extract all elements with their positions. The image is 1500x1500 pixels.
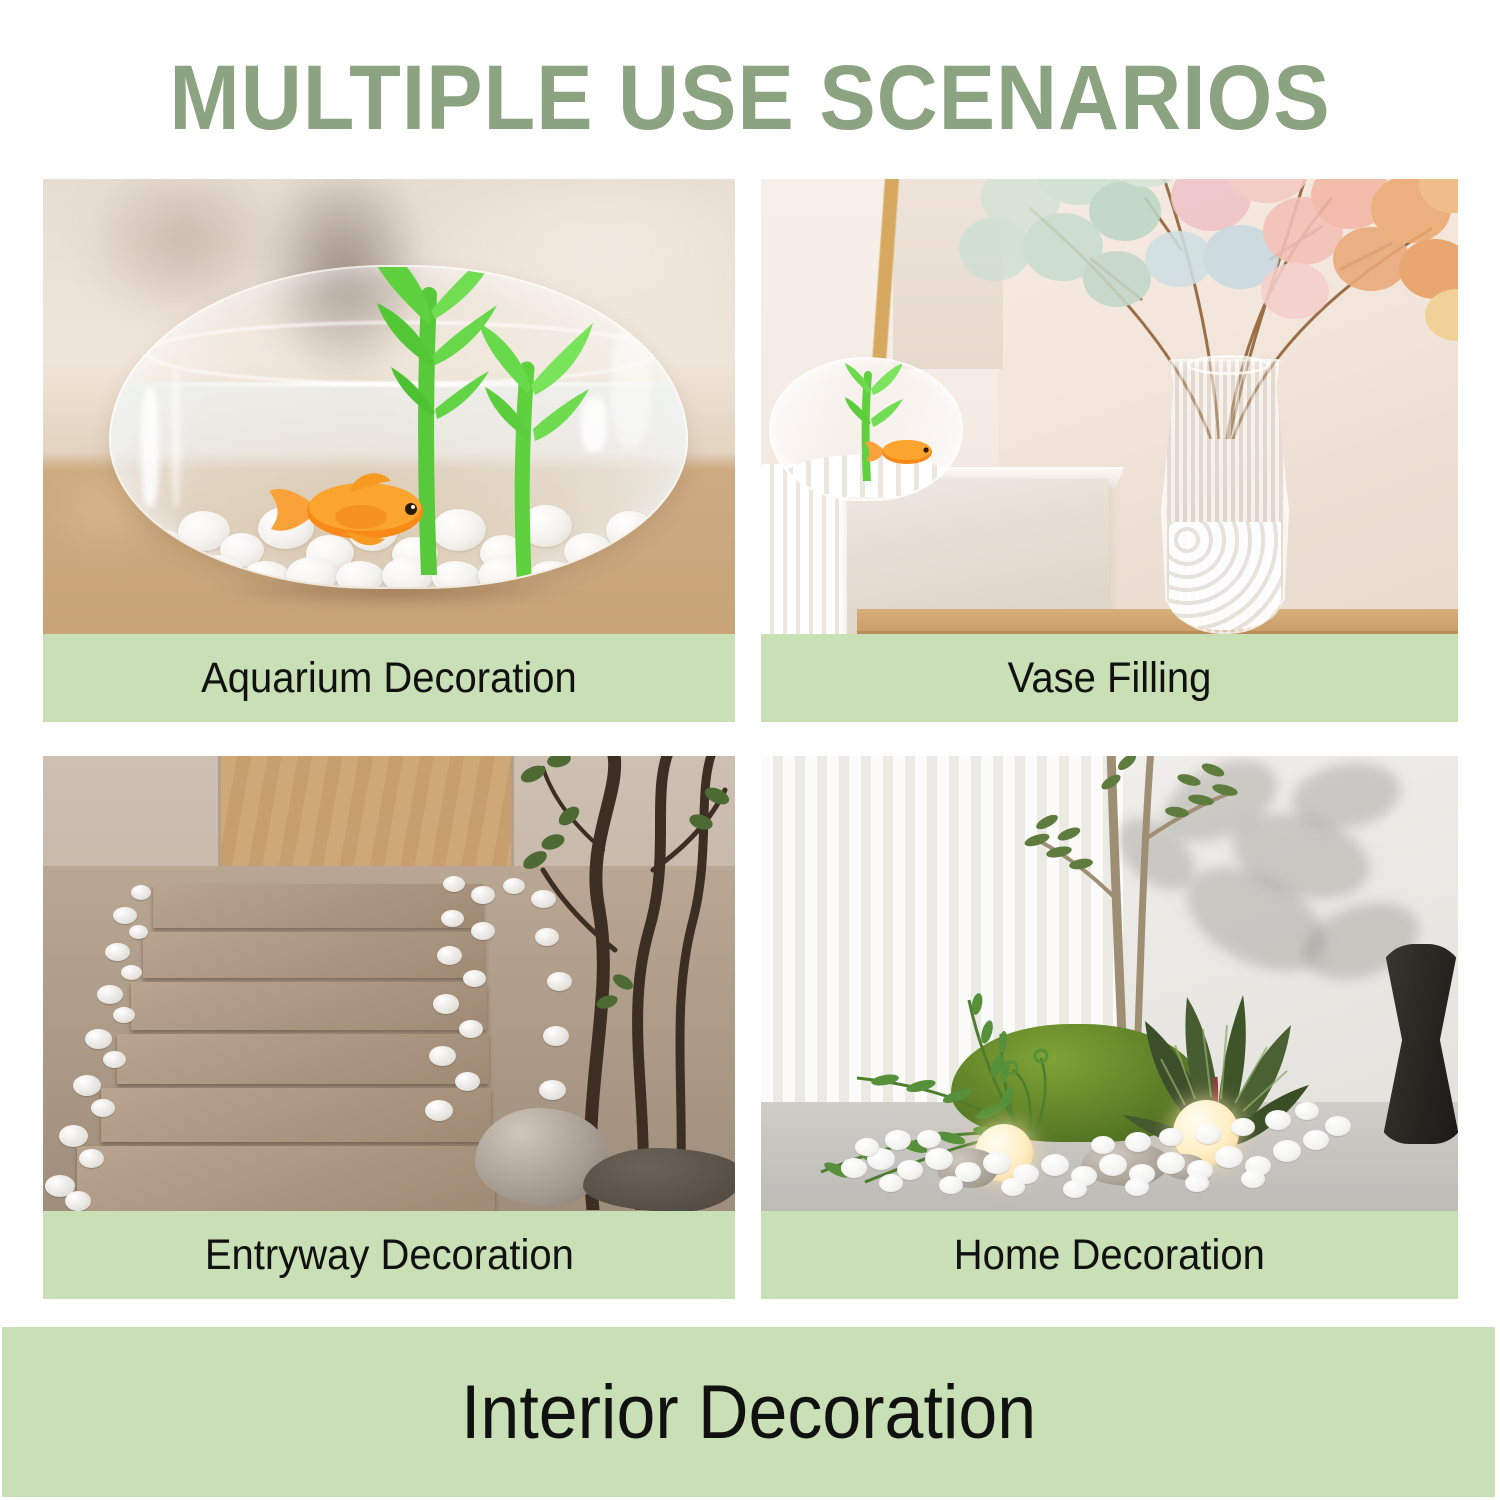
scenario-caption-text: Aquarium Decoration: [201, 654, 577, 703]
fishbowl: [109, 265, 688, 589]
footer-label: Interior Decoration: [461, 1369, 1036, 1456]
white-pebble-ring: [839, 1086, 1359, 1196]
dark-gravel-patch: [583, 1148, 735, 1211]
vase-pebble-fill: [1169, 522, 1281, 630]
vase-filling-photo: [761, 179, 1458, 634]
scenario-card-vase: Vase Filling: [761, 179, 1458, 722]
scenario-caption-text: Vase Filling: [1008, 654, 1212, 703]
scenario-caption: Home Decoration: [761, 1211, 1458, 1299]
vase-lip: [1187, 355, 1269, 375]
home-decoration-photo: [761, 756, 1458, 1211]
scenario-card-home: Home Decoration: [761, 756, 1458, 1299]
aquarium-photo: [43, 179, 735, 634]
scenario-card-aquarium: Aquarium Decoration: [43, 179, 735, 722]
entryway-photo: [43, 756, 735, 1211]
white-gravel-left: [43, 881, 163, 1211]
scenario-caption-text: Home Decoration: [954, 1231, 1265, 1280]
glass-vase: [1161, 359, 1289, 634]
page-title: MULTIPLE USE SCENARIOS: [60, 50, 1440, 147]
scenario-card-entryway: Entryway Decoration: [43, 756, 735, 1299]
goldfish: [261, 463, 441, 553]
scenario-caption: Vase Filling: [761, 634, 1458, 722]
scenario-grid: Aquarium Decoration: [43, 179, 1458, 1310]
wooden-table-body: [857, 631, 1458, 634]
footer-banner: Interior Decoration: [2, 1327, 1495, 1497]
scenario-caption: Aquarium Decoration: [43, 634, 735, 722]
aquatic-plant-right: [421, 297, 641, 589]
scenario-caption-text: Entryway Decoration: [205, 1231, 574, 1280]
scenario-caption: Entryway Decoration: [43, 1211, 735, 1299]
